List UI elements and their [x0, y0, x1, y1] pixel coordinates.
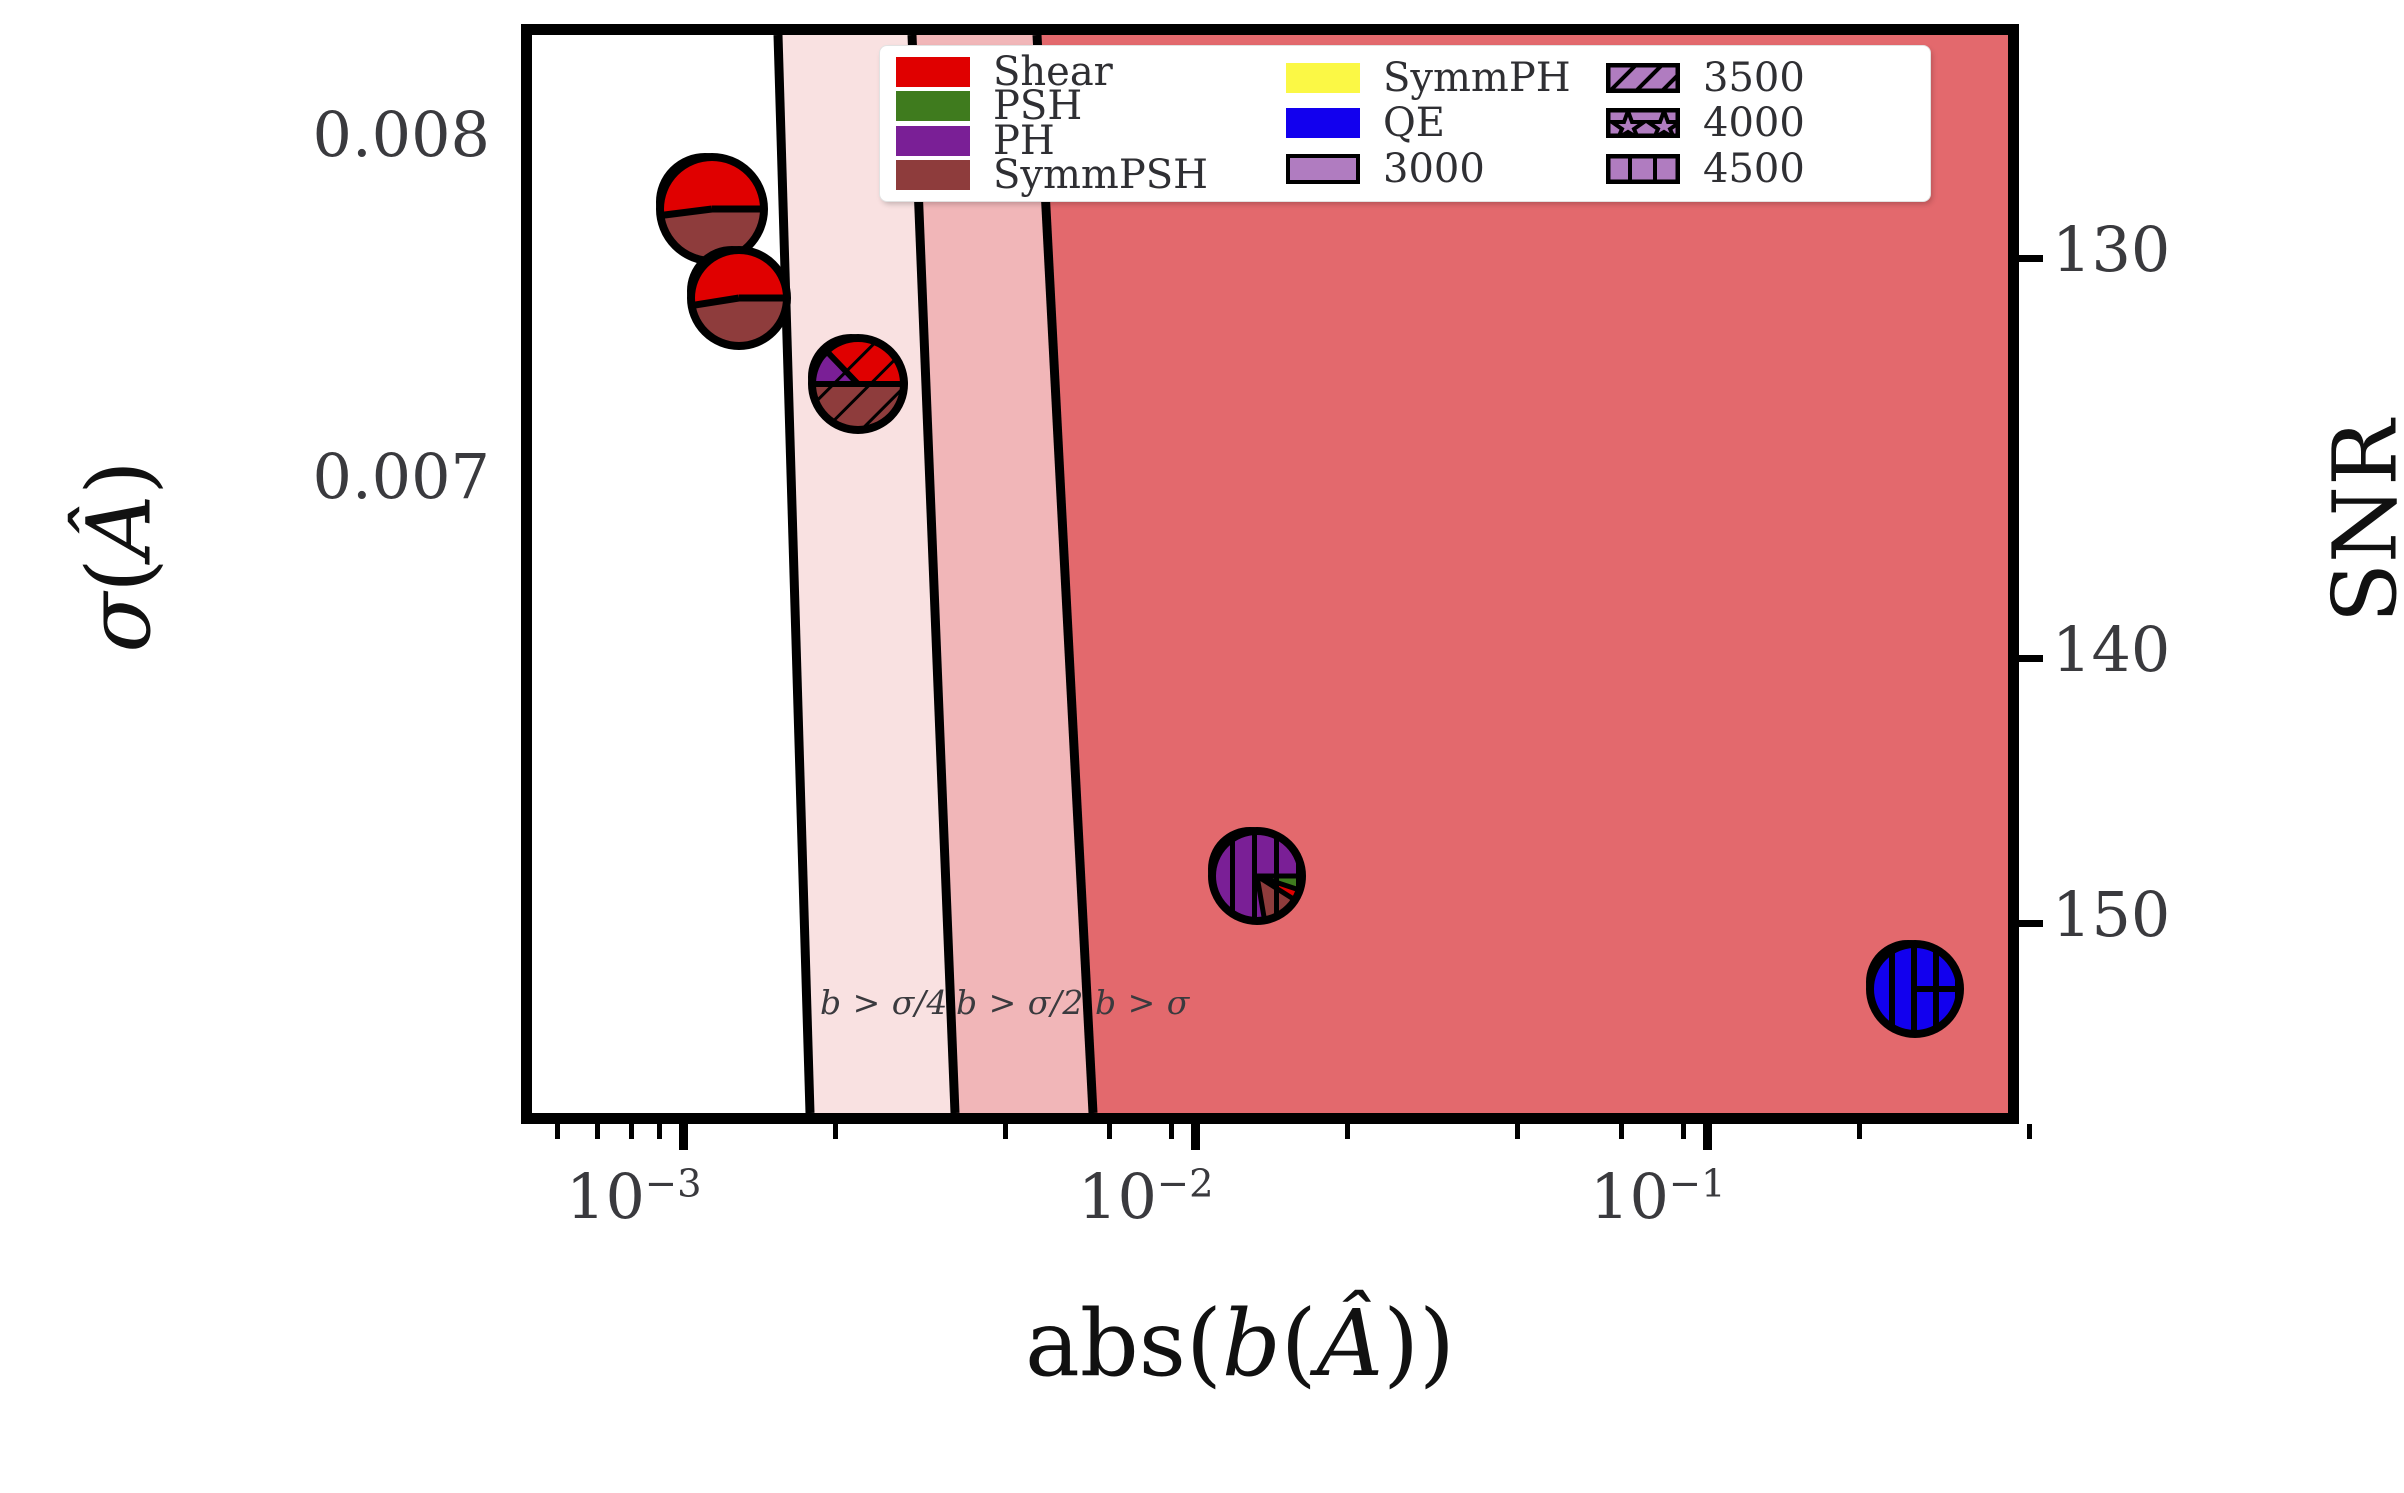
xtick-mark-1e-3 [679, 1124, 688, 1150]
legend-item-psh[interactable]: PSH [896, 89, 1286, 123]
legend-label-3500: 3500 [1703, 58, 1805, 98]
xtick-minor-d [657, 1124, 662, 1139]
legend-item-4500[interactable]: 4500 [1606, 152, 1906, 186]
y-axis-title: σ(Â) [68, 342, 171, 772]
rtick-label-150: 150 [2052, 878, 2170, 951]
legend-item-qe[interactable]: QE [1286, 106, 1606, 140]
pie-marker-p1[interactable] [656, 153, 754, 251]
xtick-minor-j [1515, 1124, 1520, 1139]
xtick-minor-k [1619, 1124, 1624, 1139]
legend-swatch-psh [896, 91, 970, 121]
xtick-label-1e-3: 10−3 [566, 1160, 702, 1233]
legend-swatch-ph [896, 126, 970, 156]
band-label-sigma-full: b > σ [1095, 983, 1190, 1022]
legend-label-symmph: SymmPH [1383, 58, 1571, 98]
xtick-label-1e-2: 10−2 [1078, 1160, 1214, 1233]
legend-swatch-3000 [1286, 154, 1360, 184]
legend-label-4000: 4000 [1703, 103, 1805, 143]
legend-label-qe: QE [1383, 103, 1445, 143]
band-label-sigma-half: b > σ/2 [956, 983, 1084, 1022]
rtick-mark-130 [2019, 255, 2043, 262]
legend-swatch-symmpsh [896, 160, 970, 190]
xtick-minor-i [1345, 1124, 1350, 1139]
legend-item-3000[interactable]: 3000 [1286, 152, 1606, 186]
legend-label-symmpsh: SymmPSH [993, 155, 1208, 195]
rtick-mark-140 [2019, 655, 2043, 662]
ytick-label-0008: 0.008 [0, 98, 490, 171]
legend-swatch-4000 [1606, 108, 1680, 138]
xtick-minor-l [1681, 1124, 1686, 1139]
legend-swatch-shear [896, 57, 970, 87]
xtick-mark-1e-2 [1191, 1124, 1200, 1150]
legend-column-3: 3500 4000 [1606, 55, 1906, 192]
legend-item-4000[interactable]: 4000 [1606, 106, 1906, 140]
xtick-minor-g [1107, 1124, 1112, 1139]
legend-swatch-symmph [1286, 63, 1360, 93]
xtick-minor-n [2027, 1124, 2032, 1139]
legend-swatch-qe [1286, 108, 1360, 138]
legend-item-shear[interactable]: Shear [896, 55, 1286, 89]
xtick-minor-a [555, 1124, 560, 1139]
pie-marker-p3[interactable] [808, 334, 894, 420]
pie-marker-p2[interactable] [687, 246, 777, 336]
pie-marker-p5[interactable] [1866, 940, 1950, 1024]
legend-item-symmph[interactable]: SymmPH [1286, 61, 1606, 95]
legend-swatch-3500 [1606, 63, 1680, 93]
legend-column-2: SymmPH QE 3000 [1286, 55, 1606, 192]
legend-label-3000: 3000 [1383, 149, 1485, 189]
xtick-minor-h [1169, 1124, 1174, 1139]
legend-label-4500: 4500 [1703, 149, 1805, 189]
legend-swatch-4500 [1606, 154, 1680, 184]
legend-column-1: Shear PSH PH SymmPSH [896, 55, 1286, 192]
xtick-minor-e [833, 1124, 838, 1139]
x-axis-title: abs(b(Â)) [760, 1290, 1720, 1397]
pie-marker-p4[interactable] [1208, 827, 1292, 911]
xtick-minor-f [1003, 1124, 1008, 1139]
legend-item-3500[interactable]: 3500 [1606, 61, 1906, 95]
rtick-label-140: 140 [2052, 613, 2170, 686]
rtick-mark-150 [2019, 920, 2043, 927]
xtick-minor-b [595, 1124, 600, 1139]
band-label-sigma-quarter: b > σ/4 [820, 983, 948, 1022]
xtick-minor-c [629, 1124, 634, 1139]
legend: Shear PSH PH SymmPSH SymmPH QE 3000 [880, 46, 1930, 201]
legend-item-symmpsh[interactable]: SymmPSH [896, 158, 1286, 192]
right-axis-title: SNR [2314, 307, 2404, 737]
xtick-mark-1e-1 [1703, 1124, 1712, 1150]
xtick-label-1e-1: 10−1 [1590, 1160, 1726, 1233]
rtick-label-130: 130 [2052, 213, 2170, 286]
xtick-minor-m [1857, 1124, 1862, 1139]
